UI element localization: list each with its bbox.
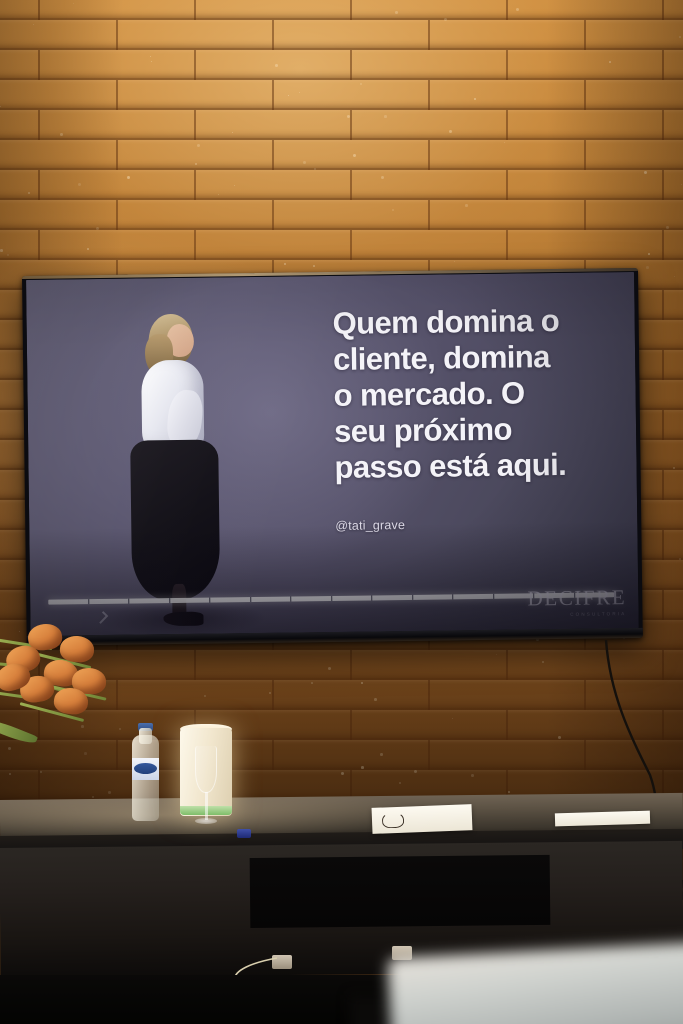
brick-course bbox=[0, 110, 683, 140]
bottle-label bbox=[132, 758, 159, 780]
logo-tagline: CONSULTORIA bbox=[528, 611, 627, 617]
brick-speck bbox=[150, 56, 151, 57]
progress-segment[interactable] bbox=[332, 595, 373, 601]
brick-speck bbox=[542, 661, 544, 663]
progress-segment[interactable] bbox=[372, 595, 413, 601]
brick-speck bbox=[381, 176, 384, 179]
brick-speck bbox=[360, 83, 362, 85]
brick-speck bbox=[288, 95, 289, 96]
card-logo-icon bbox=[382, 812, 405, 829]
brick-course bbox=[0, 80, 683, 110]
brick-course bbox=[0, 230, 683, 260]
brick-speck bbox=[313, 265, 315, 267]
wall-mounted-tv[interactable]: Quem domina o cliente, domina o mercado.… bbox=[22, 268, 643, 646]
brick-speck bbox=[328, 667, 331, 670]
brick-speck bbox=[392, 209, 394, 211]
brick-speck bbox=[609, 61, 611, 63]
brick-speck bbox=[681, 184, 682, 185]
brick-speck bbox=[284, 263, 286, 265]
brick-speck bbox=[197, 144, 200, 147]
brick-speck bbox=[234, 185, 235, 186]
brick-speck bbox=[679, 36, 681, 38]
slide-headline: Quem domina o cliente, domina o mercado.… bbox=[332, 302, 624, 486]
brick-speck bbox=[674, 276, 675, 277]
slide-subject-photo bbox=[104, 311, 248, 633]
brick-speck bbox=[666, 226, 669, 229]
brick-speck bbox=[454, 261, 455, 262]
headline-line: o mercado. O bbox=[333, 374, 623, 414]
brick-speck bbox=[341, 772, 344, 775]
brick-speck bbox=[414, 770, 417, 773]
brick-speck bbox=[87, 248, 89, 250]
headline-line: passo está aqui. bbox=[334, 446, 624, 486]
progress-segment[interactable] bbox=[89, 599, 130, 605]
brick-speck bbox=[151, 61, 152, 62]
brick-speck bbox=[353, 154, 356, 157]
brick-speck bbox=[311, 682, 313, 684]
brick-speck bbox=[0, 106, 1, 107]
brick-speck bbox=[299, 92, 300, 93]
brick-course bbox=[0, 140, 683, 170]
progress-segment[interactable] bbox=[210, 597, 251, 603]
brick-course bbox=[0, 170, 683, 200]
brick-speck bbox=[504, 142, 505, 143]
brick-speck bbox=[646, 266, 649, 269]
brick-speck bbox=[474, 98, 476, 100]
brick-course bbox=[0, 50, 683, 80]
brick-speck bbox=[28, 192, 30, 194]
printed-card-right[interactable] bbox=[555, 811, 650, 827]
champagne-flute[interactable] bbox=[191, 746, 221, 828]
brick-speck bbox=[558, 736, 561, 739]
flute-bowl bbox=[195, 746, 217, 793]
room-scene: Quem domina o cliente, domina o mercado.… bbox=[0, 0, 683, 1024]
brick-course bbox=[0, 0, 683, 20]
brick-speck bbox=[361, 766, 364, 769]
brick-speck bbox=[218, 194, 219, 195]
subject-shoe bbox=[163, 612, 203, 627]
brick-speck bbox=[673, 467, 675, 469]
brick-speck bbox=[395, 11, 398, 14]
flute-foot bbox=[195, 818, 217, 824]
brick-speck bbox=[314, 168, 316, 170]
progress-segment[interactable] bbox=[48, 599, 89, 605]
brick-speck bbox=[471, 774, 474, 777]
brick-speck bbox=[73, 3, 74, 4]
brick-speck bbox=[232, 132, 233, 133]
brick-speck bbox=[303, 161, 306, 164]
brick-speck bbox=[7, 254, 9, 256]
tulip-bloom bbox=[59, 635, 95, 663]
headline-line: seu próximo bbox=[334, 410, 624, 450]
brick-speck bbox=[380, 753, 383, 756]
brick-speck bbox=[508, 791, 510, 793]
subject-skirt bbox=[130, 439, 220, 600]
brick-course bbox=[0, 200, 683, 230]
brick-speck bbox=[60, 133, 63, 136]
brick-speck bbox=[204, 695, 206, 697]
brick-speck bbox=[269, 692, 271, 694]
printed-card-left[interactable] bbox=[372, 804, 473, 834]
blue-cap[interactable] bbox=[237, 829, 251, 838]
brick-speck bbox=[78, 183, 81, 186]
social-handle: @tati_grave bbox=[335, 518, 405, 533]
tulip-leaf bbox=[0, 716, 38, 747]
progress-segment[interactable] bbox=[129, 598, 170, 604]
headline-line: cliente, domina bbox=[333, 338, 623, 378]
progress-segment[interactable] bbox=[251, 597, 292, 603]
logo-wordmark: DECIFRE bbox=[527, 585, 626, 611]
brick-speck bbox=[516, 8, 519, 11]
brick-speck bbox=[275, 64, 278, 67]
brick-speck bbox=[127, 176, 130, 179]
brick-speck bbox=[496, 654, 497, 655]
cabinet-open-bay bbox=[250, 855, 551, 928]
brick-speck bbox=[644, 171, 647, 174]
progress-segment[interactable] bbox=[291, 596, 332, 602]
brick-course bbox=[0, 20, 683, 50]
brick-speck bbox=[361, 682, 363, 684]
brick-speck bbox=[0, 249, 3, 252]
brick-speck bbox=[33, 24, 34, 25]
brick-speck bbox=[452, 718, 453, 719]
tv-screen[interactable]: Quem domina o cliente, domina o mercado.… bbox=[26, 272, 639, 636]
brick-speck bbox=[347, 115, 350, 118]
brick-speck bbox=[195, 163, 197, 165]
progress-segment[interactable] bbox=[413, 594, 454, 600]
brick-speck bbox=[648, 253, 650, 255]
brick-speck bbox=[374, 698, 377, 701]
progress-segment[interactable] bbox=[170, 598, 211, 604]
brick-speck bbox=[449, 130, 452, 133]
brick-speck bbox=[465, 204, 468, 207]
brand-logo: DECIFRE CONSULTORIA bbox=[527, 585, 626, 617]
brick-speck bbox=[384, 115, 387, 118]
brick-speck bbox=[96, 227, 99, 230]
flute-stem bbox=[205, 792, 208, 820]
brick-speck bbox=[399, 782, 401, 784]
brick-speck bbox=[444, 18, 447, 21]
headline-line: Quem domina o bbox=[332, 302, 622, 342]
brick-speck bbox=[679, 558, 681, 560]
progress-segment[interactable] bbox=[453, 594, 494, 600]
